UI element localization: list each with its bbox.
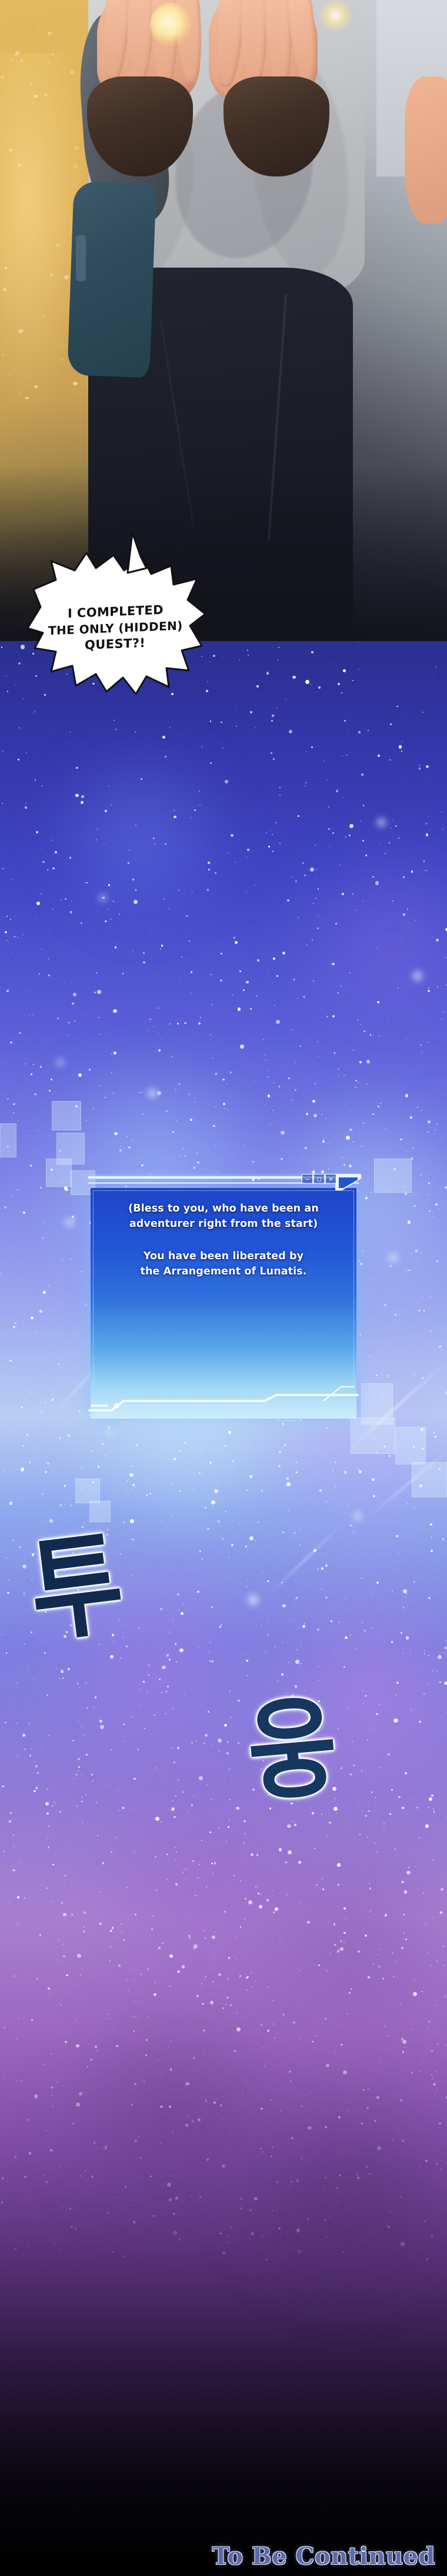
dust-mote	[20, 392, 22, 394]
star	[114, 1132, 118, 1136]
panel1-bag-tab	[76, 235, 86, 281]
dust-mote	[52, 54, 54, 55]
star	[75, 794, 79, 798]
panel1-glow-highlight	[318, 0, 353, 31]
star	[224, 1724, 227, 1727]
star	[376, 2096, 379, 2099]
star	[406, 1636, 409, 1639]
star	[76, 2103, 80, 2107]
bright-star-bloom	[56, 1059, 64, 1066]
dust-mote	[61, 358, 64, 361]
decorative-square	[0, 1123, 16, 1157]
star	[76, 2044, 79, 2048]
star	[378, 755, 380, 757]
panel1-glowing-object	[150, 3, 191, 46]
star	[22, 1564, 26, 1569]
dust-mote	[65, 345, 66, 346]
star	[403, 1589, 407, 1593]
dust-mote	[3, 288, 6, 291]
star	[349, 1164, 352, 1168]
star	[199, 1776, 203, 1780]
bright-star-bloom	[353, 1511, 362, 1521]
panel-character-closeup	[0, 0, 447, 641]
dust-mote	[9, 149, 13, 152]
star	[211, 1500, 215, 1504]
star	[185, 2124, 188, 2127]
star	[375, 881, 379, 885]
star	[279, 1848, 282, 1851]
star	[402, 2040, 406, 2044]
star	[110, 1655, 114, 1659]
star	[429, 1797, 432, 1801]
star	[276, 1020, 280, 1024]
star	[154, 1993, 156, 1996]
star	[428, 1120, 431, 1123]
sfx-ung: 웅	[241, 1659, 343, 1823]
star	[313, 1114, 317, 1117]
star	[361, 773, 363, 776]
star	[61, 1670, 64, 1673]
star	[287, 899, 289, 902]
star	[436, 939, 439, 942]
star	[167, 2183, 171, 2187]
star	[29, 2152, 32, 2155]
star	[222, 2164, 225, 2168]
star	[308, 2126, 312, 2130]
dust-mote	[5, 267, 7, 269]
star	[249, 1536, 253, 1540]
dust-mote	[48, 32, 51, 35]
star	[340, 1947, 343, 1951]
star	[332, 963, 334, 965]
star	[360, 1263, 362, 1265]
close-icon[interactable]: ✕	[325, 1174, 336, 1184]
star	[366, 1060, 369, 1063]
star	[312, 1100, 315, 1103]
star	[359, 1470, 362, 1473]
star	[198, 2118, 201, 2121]
star	[174, 816, 176, 819]
system-message-window: – □ ✕ (Bless to you, who have been an ad…	[88, 1174, 359, 1421]
dust-mote	[45, 94, 47, 95]
star	[251, 1853, 254, 1857]
decorative-square	[412, 1462, 447, 1497]
star	[281, 1131, 285, 1135]
star	[413, 1992, 417, 1996]
dust-mote	[2, 355, 4, 356]
bright-star-bloom	[147, 1088, 158, 1099]
star	[259, 1905, 262, 1908]
system-message-line-3: You have been liberated by	[100, 1249, 347, 1264]
star	[310, 867, 314, 872]
star	[305, 680, 309, 684]
star	[326, 2064, 329, 2067]
star	[21, 1467, 24, 1471]
star	[321, 1170, 324, 1173]
bright-star-bloom	[65, 1217, 75, 1227]
star	[275, 1907, 278, 1911]
star	[344, 1471, 347, 1474]
star	[114, 1052, 116, 1055]
system-message-line-1: (Bless to you, who have been an	[100, 1201, 347, 1216]
star	[399, 745, 402, 748]
star	[9, 1501, 13, 1505]
star	[343, 1907, 346, 1910]
star	[426, 833, 428, 836]
star	[288, 1850, 292, 1854]
star	[236, 1807, 239, 1810]
star	[78, 1073, 82, 1077]
star	[425, 1824, 429, 1828]
dust-mote	[1, 75, 5, 79]
dust-mote	[73, 382, 78, 385]
speech-bubble-line-3: QUEST?!	[85, 635, 145, 653]
star	[39, 1310, 42, 1313]
star	[426, 765, 429, 768]
star	[238, 1007, 241, 1011]
star	[433, 2083, 435, 2086]
decorative-square	[351, 1417, 395, 1454]
decorative-square	[52, 1101, 81, 1130]
bright-star-bloom	[247, 1594, 259, 1606]
star	[31, 1317, 34, 1320]
star	[401, 1881, 404, 1884]
star	[214, 1489, 218, 1493]
star	[408, 1220, 411, 1223]
star	[365, 1197, 368, 1199]
dust-mote	[56, 243, 61, 247]
star	[65, 1189, 68, 1192]
star	[410, 1116, 412, 1119]
dust-mote	[70, 71, 74, 74]
star	[298, 2250, 301, 2253]
star	[372, 1478, 375, 1481]
star	[282, 1604, 286, 1608]
star	[194, 1944, 198, 1948]
star	[130, 1519, 134, 1523]
star	[155, 1817, 159, 1821]
dust-mote	[47, 61, 49, 63]
star	[236, 2027, 241, 2031]
maximize-icon[interactable]: □	[313, 1174, 325, 1184]
star	[254, 2197, 258, 2201]
star	[73, 993, 76, 996]
star	[160, 2105, 163, 2108]
star	[99, 1720, 102, 1723]
dust-mote	[21, 59, 24, 62]
star	[162, 1666, 166, 1670]
star	[343, 669, 346, 672]
minimize-icon[interactable]: –	[302, 1174, 313, 1184]
star	[129, 1473, 133, 1477]
bright-star-bloom	[376, 817, 386, 827]
decorative-square	[46, 1159, 72, 1187]
star	[34, 2094, 38, 2098]
star	[249, 1475, 252, 1478]
star	[282, 952, 285, 955]
decorative-square	[374, 1159, 412, 1193]
star	[393, 1719, 398, 1723]
star	[105, 810, 108, 813]
star	[329, 1821, 331, 1824]
sfx-tu: 투	[20, 1492, 131, 1664]
star	[21, 645, 25, 649]
star	[444, 1681, 447, 1685]
star	[171, 1807, 175, 1811]
star	[63, 1913, 66, 1917]
system-message-line-4: the Arrangement of Lunatis.	[100, 1264, 347, 1279]
bright-star-bloom	[99, 894, 106, 902]
star	[268, 1095, 270, 1097]
star	[218, 1973, 221, 1976]
star	[222, 2251, 225, 2254]
star	[45, 1802, 49, 1806]
system-message-spacer	[100, 1232, 347, 1249]
star	[251, 2232, 254, 2235]
star	[77, 1954, 81, 1958]
star	[286, 1482, 291, 1486]
star	[210, 2001, 214, 2004]
star	[438, 1655, 442, 1659]
star	[401, 2242, 405, 2246]
star	[426, 2258, 429, 2261]
star	[205, 1734, 208, 1737]
bright-star-bloom	[388, 1253, 398, 1263]
panel1-other-arm	[405, 76, 447, 223]
bright-star-bloom	[412, 970, 423, 982]
star	[235, 941, 238, 944]
star	[345, 1636, 348, 1639]
star	[404, 1890, 408, 1894]
star	[302, 1625, 305, 1628]
star	[377, 2146, 381, 2150]
star	[169, 2198, 172, 2201]
star	[346, 1136, 350, 1140]
star	[113, 1009, 117, 1013]
star	[287, 1824, 291, 1828]
to-be-continued-label: To Be Continued	[212, 2542, 435, 2570]
star	[298, 1861, 301, 1864]
star	[246, 981, 249, 984]
star	[307, 1921, 310, 1924]
star	[228, 1431, 231, 1433]
dust-mote	[74, 146, 79, 150]
star	[385, 1914, 387, 1916]
star	[289, 730, 292, 733]
system-window-bottom-decor	[88, 1386, 359, 1421]
star	[81, 801, 84, 804]
star	[134, 900, 138, 904]
star	[343, 2070, 347, 2074]
star	[218, 1739, 222, 1743]
dust-mote	[50, 273, 53, 276]
star	[296, 2228, 301, 2233]
star	[240, 1045, 244, 1049]
star	[337, 1950, 339, 1952]
dust-mote	[34, 95, 37, 98]
star	[100, 1725, 104, 1729]
star	[181, 1612, 184, 1615]
star	[177, 1970, 180, 1973]
star	[162, 736, 165, 739]
star	[185, 2082, 189, 2086]
star	[43, 1291, 46, 1294]
system-message-text: (Bless to you, who have been an adventur…	[88, 1201, 359, 1279]
star	[22, 1734, 25, 1737]
star	[97, 990, 101, 994]
dust-mote	[38, 29, 40, 31]
star	[248, 1900, 252, 1904]
dust-mote	[44, 166, 46, 168]
star	[79, 2092, 82, 2095]
star	[292, 676, 296, 679]
star	[405, 1094, 408, 1097]
star	[175, 2197, 178, 2200]
window-controls[interactable]: – □ ✕	[302, 1174, 336, 1184]
star	[231, 834, 233, 837]
star	[212, 1936, 215, 1939]
dust-mote	[8, 373, 10, 375]
to-be-continued: To Be Continued	[0, 2542, 447, 2570]
star	[445, 1186, 447, 1189]
star	[182, 1965, 185, 1968]
star	[81, 795, 84, 798]
bright-star-bloom	[106, 1429, 113, 1436]
dust-mote	[42, 315, 45, 318]
star	[406, 1871, 410, 1874]
star	[36, 902, 40, 905]
star	[225, 780, 228, 783]
speech-bubble: I COMPLETED THE ONLY (HIDDEN) QUEST?!	[25, 553, 205, 694]
system-message-line-2: adventurer right from the start)	[100, 1216, 347, 1232]
window-corner-bevel	[335, 1173, 361, 1193]
star	[173, 2231, 177, 2235]
star	[179, 1649, 183, 1652]
decorative-square	[395, 1427, 426, 1464]
star	[349, 824, 353, 828]
dust-mote	[61, 345, 62, 346]
dust-mote	[74, 165, 78, 168]
comic-page: I COMPLETED THE ONLY (HIDDEN) QUEST?! – …	[0, 0, 447, 2576]
star	[338, 2116, 341, 2119]
star	[337, 1863, 340, 1866]
star	[169, 1954, 174, 1958]
